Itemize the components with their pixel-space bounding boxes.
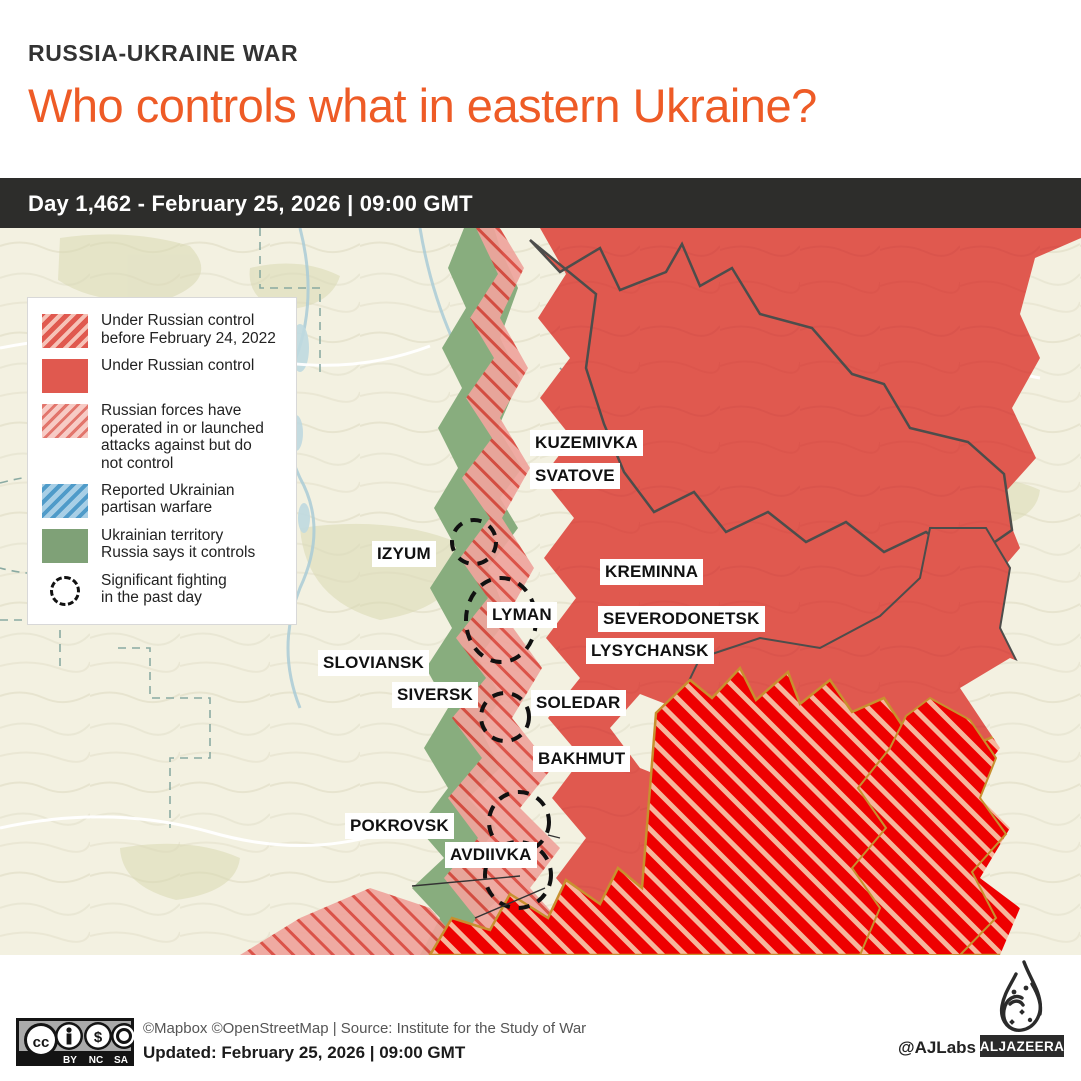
city-label-severodonetsk[interactable]: SEVERODONETSK bbox=[598, 606, 765, 632]
city-label-siversk[interactable]: SIVERSK bbox=[392, 682, 478, 708]
legend-item-partisan: Reported Ukrainian partisan warfare bbox=[42, 482, 284, 518]
legend-label-pre-invasion: Under Russian control before February 24… bbox=[101, 312, 276, 347]
city-label-pokrovsk[interactable]: POKROVSK bbox=[345, 813, 454, 839]
legend-item-fighting: Significant fighting in the past day bbox=[42, 572, 284, 608]
legend-item-operated: Russian forces have operated in or launc… bbox=[42, 402, 284, 473]
legend-label-operated: Russian forces have operated in or launc… bbox=[101, 402, 264, 473]
ajlabs-handle[interactable]: @AJLabs bbox=[898, 1038, 976, 1058]
day-banner-text: Day 1,462 - February 25, 2026 | 09:00 GM… bbox=[28, 191, 473, 217]
city-label-sloviansk[interactable]: SLOVIANSK bbox=[318, 650, 429, 676]
legend-label-russian-control: Under Russian control bbox=[101, 357, 254, 375]
city-label-svatove[interactable]: SVATOVE bbox=[530, 463, 620, 489]
infographic-page: RUSSIA-UKRAINE WAR Who controls what in … bbox=[0, 0, 1081, 1081]
legend-item-pre-invasion: Under Russian control before February 24… bbox=[42, 312, 284, 348]
city-label-kreminna[interactable]: KREMINNA bbox=[600, 559, 703, 585]
kicker-label: RUSSIA-UKRAINE WAR bbox=[28, 40, 298, 67]
legend-swatch-green-solid bbox=[42, 529, 88, 563]
city-label-lysychansk[interactable]: LYSYCHANSK bbox=[586, 638, 714, 664]
map-attribution: ©Mapbox ©OpenStreetMap | Source: Institu… bbox=[143, 1020, 586, 1037]
svg-text:cc: cc bbox=[33, 1034, 50, 1051]
legend-swatch-pink-hatched bbox=[42, 404, 88, 438]
legend-label-fighting: Significant fighting in the past day bbox=[101, 572, 227, 607]
legend-label-ukr-claimed: Ukrainian territory Russia says it contr… bbox=[101, 527, 255, 562]
svg-text:BY: BY bbox=[63, 1055, 77, 1066]
legend-item-ukr-claimed: Ukrainian territory Russia says it contr… bbox=[42, 527, 284, 563]
legend-item-russian-control: Under Russian control bbox=[42, 357, 284, 393]
legend-label-partisan: Reported Ukrainian partisan warfare bbox=[101, 482, 235, 517]
svg-text:SA: SA bbox=[114, 1055, 128, 1066]
city-label-lyman[interactable]: LYMAN bbox=[487, 602, 557, 628]
dashed-circle-icon bbox=[42, 574, 88, 608]
creative-commons-icon: cc $ BY NC SA bbox=[16, 1018, 134, 1066]
header: RUSSIA-UKRAINE WAR Who controls what in … bbox=[0, 0, 1081, 178]
legend-swatch-blue-hatched bbox=[42, 484, 88, 518]
svg-text:NC: NC bbox=[89, 1055, 103, 1066]
city-label-kuzemivka[interactable]: KUZEMIVKA bbox=[530, 430, 643, 456]
city-label-avdiivka[interactable]: AVDIIVKA bbox=[445, 842, 537, 868]
updated-timestamp: Updated: February 25, 2026 | 09:00 GMT bbox=[143, 1043, 465, 1063]
legend-swatch-red-hatched bbox=[42, 314, 88, 348]
aljazeera-wordmark: ALJAZEERA bbox=[980, 1035, 1064, 1057]
map-canvas[interactable]: Under Russian control before February 24… bbox=[0, 228, 1081, 955]
svg-text:$: $ bbox=[94, 1029, 103, 1046]
page-title: Who controls what in eastern Ukraine? bbox=[28, 78, 817, 133]
city-label-izyum[interactable]: IZYUM bbox=[372, 541, 436, 567]
city-label-bakhmut[interactable]: BAKHMUT bbox=[533, 746, 630, 772]
city-label-soledar[interactable]: SOLEDAR bbox=[531, 690, 626, 716]
legend-swatch-red-solid bbox=[42, 359, 88, 393]
map-legend: Under Russian control before February 24… bbox=[27, 297, 297, 625]
day-banner: Day 1,462 - February 25, 2026 | 09:00 GM… bbox=[0, 178, 1081, 228]
